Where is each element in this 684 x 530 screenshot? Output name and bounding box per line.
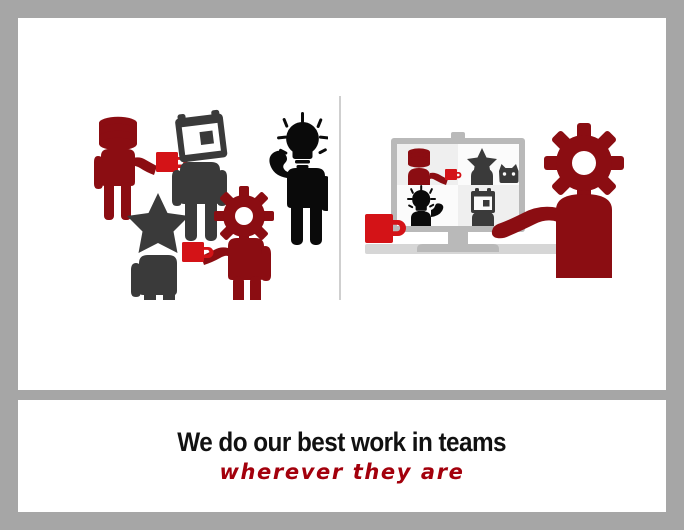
gear-icon <box>214 186 274 246</box>
figure-body <box>131 255 177 300</box>
gear-icon <box>544 123 624 203</box>
scene-divider <box>339 96 341 300</box>
figure-body <box>201 238 271 300</box>
lightbulb-head-figure <box>269 112 328 245</box>
left-scene-colocated-team <box>78 100 328 300</box>
database-icon <box>99 117 137 150</box>
illustration-panel <box>18 18 666 390</box>
figure-body <box>269 151 328 245</box>
tile-figure-calendar <box>471 188 495 226</box>
right-scene-remote-team <box>351 118 641 278</box>
headline-text: We do our best work in teams <box>178 428 507 456</box>
calendar-icon <box>174 109 227 162</box>
figure-body <box>472 211 494 226</box>
calendar-icon <box>471 188 495 213</box>
star-head-figure <box>127 193 189 300</box>
figure-body <box>471 168 493 185</box>
caption-panel: We do our best work in teams wherever th… <box>18 400 666 512</box>
subhead-text: wherever they are <box>220 460 465 484</box>
figure-body <box>172 162 227 241</box>
slide-canvas: We do our best work in teams wherever th… <box>0 0 684 530</box>
database-icon <box>408 148 430 167</box>
figure-body <box>94 149 157 220</box>
